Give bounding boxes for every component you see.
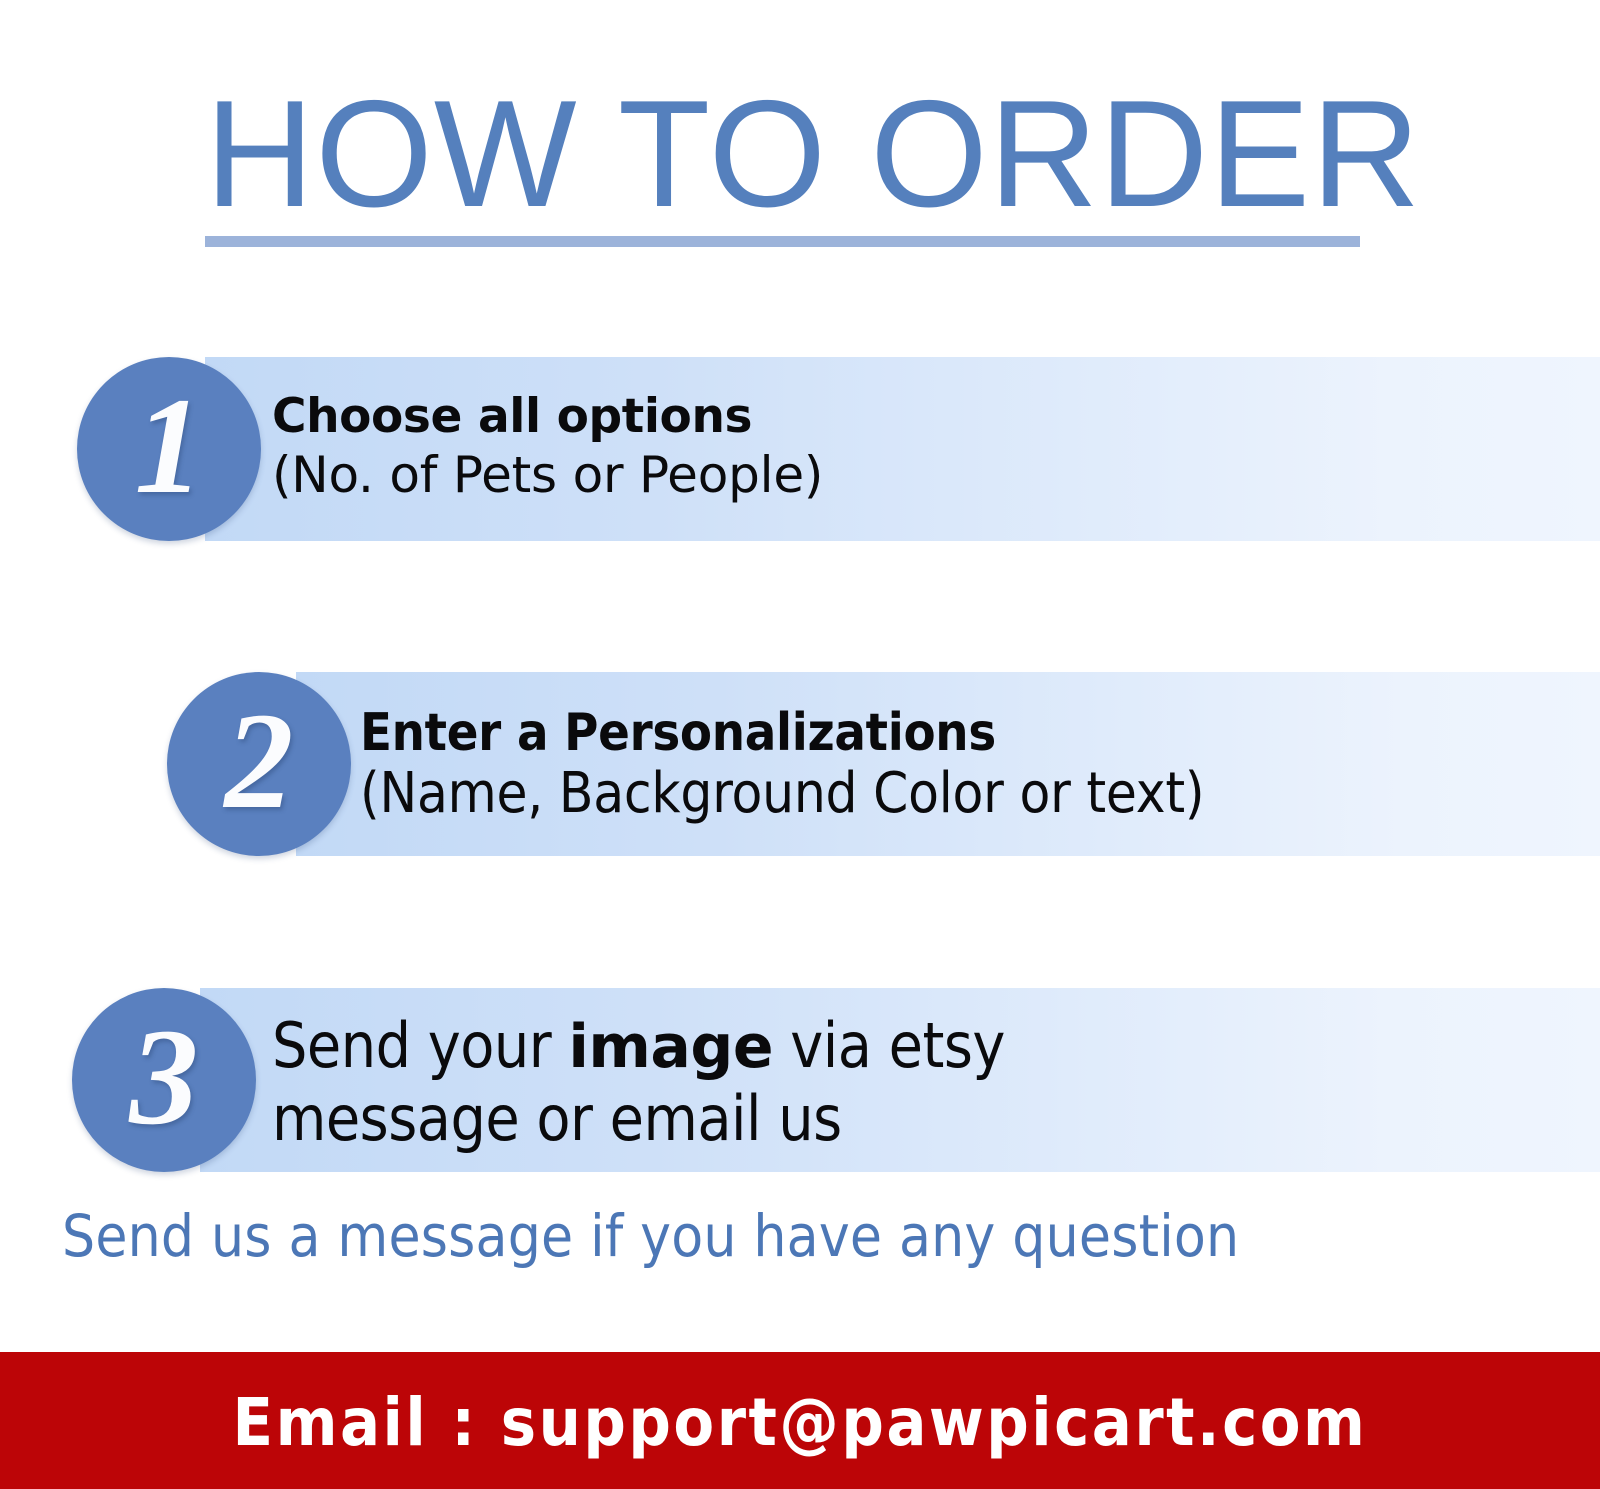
step-badge-1: 1 [77, 357, 261, 541]
step-row-2: 2 Enter a Personalizations (Name, Backgr… [0, 672, 1600, 856]
step-text-2: Enter a Personalizations (Name, Backgrou… [360, 704, 1204, 826]
step-number-2: 2 [167, 672, 351, 856]
step-text-3: Send your image via etsy message or emai… [272, 1010, 1005, 1155]
footer-email-text[interactable]: Email : support@pawpicart.com [233, 1388, 1368, 1458]
step-3-heading: Send your image via etsy [272, 1010, 1005, 1083]
page-title: HOW TO ORDER [205, 78, 1359, 230]
step-3-heading-emphasis: image [568, 1012, 773, 1082]
closing-note: Send us a message if you have any questi… [62, 1203, 1239, 1269]
step-1-subtext: (No. of Pets or People) [272, 445, 823, 505]
step-row-3: 3 Send your image via etsy message or em… [0, 988, 1600, 1172]
step-2-subtext: (Name, Background Color or text) [360, 762, 1204, 826]
step-badge-3: 3 [72, 988, 256, 1172]
step-2-heading: Enter a Personalizations [360, 704, 1204, 762]
step-3-heading-prefix: Send your [272, 1009, 568, 1082]
title-block: HOW TO ORDER [205, 78, 1365, 258]
step-badge-2: 2 [167, 672, 351, 856]
footer-contact-bar: Email : support@pawpicart.com [0, 1352, 1600, 1489]
step-text-1: Choose all options (No. of Pets or Peopl… [272, 389, 823, 505]
step-3-subtext: message or email us [272, 1083, 1005, 1155]
step-number-1: 1 [77, 357, 261, 541]
step-3-heading-suffix: via etsy [773, 1009, 1005, 1082]
infographic-canvas: HOW TO ORDER 1 Choose all options (No. o… [0, 0, 1600, 1489]
step-row-1: 1 Choose all options (No. of Pets or Peo… [0, 357, 1600, 541]
step-number-3: 3 [72, 988, 256, 1172]
title-underline-rule [205, 236, 1360, 247]
step-1-heading: Choose all options [272, 389, 823, 445]
